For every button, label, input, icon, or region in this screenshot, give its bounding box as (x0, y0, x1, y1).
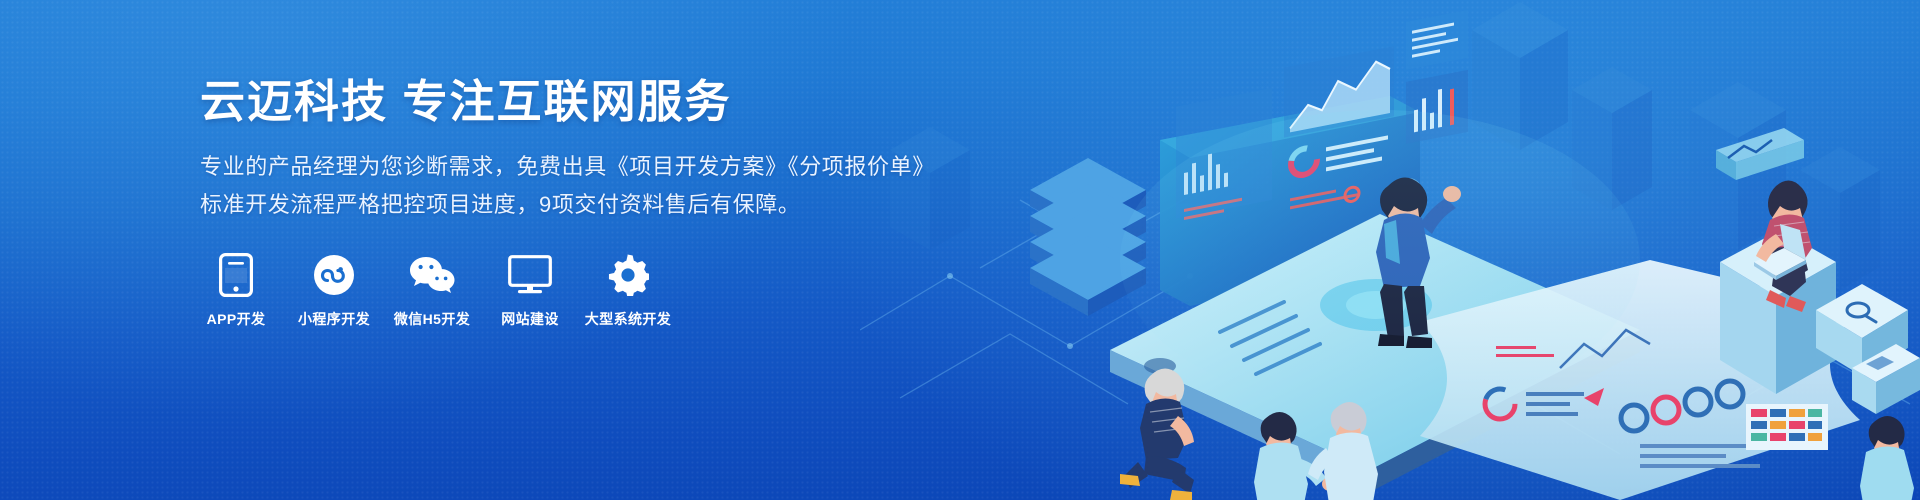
gear-icon (605, 252, 651, 298)
banner-subtitle: 专业的产品经理为您诊断需求，免费出具《项目开发方案》《分项报价单》 标准开发流程… (200, 148, 980, 224)
service-item-miniprogram[interactable]: 小程序开发 (298, 252, 370, 329)
service-label-website: 网站建设 (501, 309, 559, 329)
service-item-app[interactable]: APP开发 (200, 252, 272, 329)
service-label-miniprogram: 小程序开发 (298, 309, 370, 329)
service-label-app: APP开发 (207, 309, 266, 329)
wechat-icon (409, 252, 455, 298)
service-item-wechat[interactable]: 微信H5开发 (396, 252, 468, 329)
subtitle-line-2: 标准开发流程严格把控项目进度，9项交付资料售后有保障。 (200, 186, 980, 224)
monitor-icon (507, 252, 553, 298)
service-icon-row: APP开发 小程序开发 (200, 252, 980, 329)
subtitle-line-1: 专业的产品经理为您诊断需求，免费出具《项目开发方案》《分项报价单》 (200, 148, 980, 186)
service-label-wechat: 微信H5开发 (394, 309, 470, 329)
person-bottom-right (1860, 416, 1914, 500)
sitting-person-on-tablet (1120, 368, 1194, 500)
service-label-system: 大型系统开发 (585, 309, 671, 329)
service-item-system[interactable]: 大型系统开发 (592, 252, 664, 329)
banner-content: 云迈科技 专注互联网服务 专业的产品经理为您诊断需求，免费出具《项目开发方案》《… (200, 0, 980, 329)
smartphone-icon (213, 252, 259, 298)
page-title: 云迈科技 专注互联网服务 (200, 76, 980, 128)
hero-banner: 云迈科技 专注互联网服务 专业的产品经理为您诊断需求，免费出具《项目开发方案》《… (0, 0, 1920, 500)
service-item-website[interactable]: 网站建设 (494, 252, 566, 329)
mini-program-icon (311, 252, 357, 298)
isometric-illustration (860, 0, 1920, 500)
